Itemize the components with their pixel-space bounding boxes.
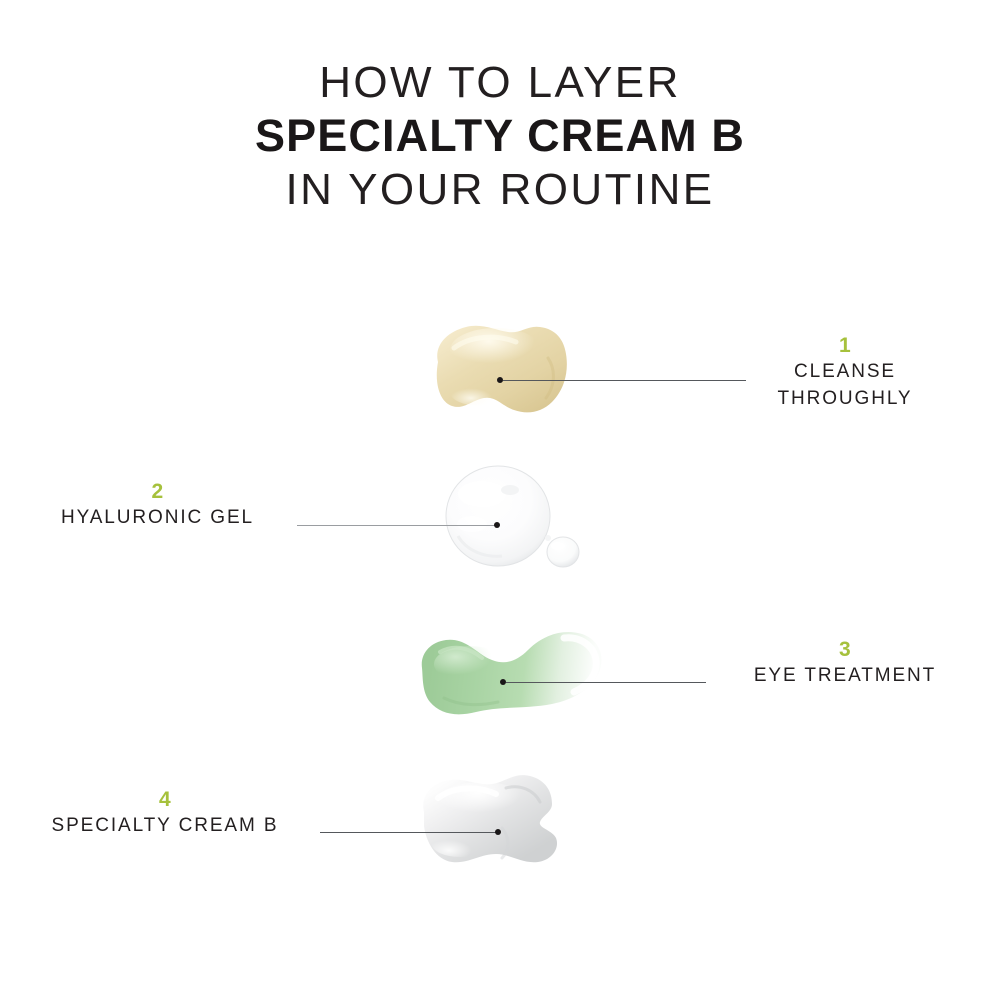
eye-cream-swatch bbox=[414, 616, 614, 726]
step-number-2: 2 bbox=[20, 480, 295, 504]
title-line-how-to-layer: HOW TO LAYER bbox=[0, 58, 1000, 108]
connector-dot-step-2 bbox=[494, 522, 500, 528]
step-label-1-line-2: THROUGHLY bbox=[700, 385, 990, 412]
step-label-1-line-1: CLEANSE bbox=[700, 358, 990, 385]
connector-dot-step-1 bbox=[497, 377, 503, 383]
step-label-group-3: 3 EYE TREATMENT bbox=[700, 638, 990, 689]
step-label-2-line-1: HYALURONIC GEL bbox=[20, 504, 295, 531]
step-label-group-1: 1 CLEANSE THROUGHLY bbox=[700, 334, 990, 412]
step-label-group-2: 2 HYALURONIC GEL bbox=[20, 480, 295, 531]
connector-line-step-2 bbox=[297, 525, 497, 526]
step-number-1: 1 bbox=[700, 334, 990, 358]
title-line-product-name: SPECIALTY CREAM B bbox=[0, 108, 1000, 164]
connector-line-step-4 bbox=[320, 832, 498, 833]
gel-droplet-swatch bbox=[432, 462, 592, 574]
step-label-4-line-1: SPECIALTY CREAM B bbox=[20, 812, 310, 839]
poster-title: HOW TO LAYER SPECIALTY CREAM B IN YOUR R… bbox=[0, 58, 1000, 216]
step-number-4: 4 bbox=[20, 788, 310, 812]
step-label-3-line-1: EYE TREATMENT bbox=[700, 662, 990, 689]
cleanser-swatch bbox=[424, 318, 600, 424]
step-label-group-4: 4 SPECIALTY CREAM B bbox=[20, 788, 310, 839]
connector-line-step-3 bbox=[506, 682, 706, 683]
specialty-cream-swatch bbox=[406, 768, 602, 872]
connector-dot-step-3 bbox=[500, 679, 506, 685]
infographic-poster: HOW TO LAYER SPECIALTY CREAM B IN YOUR R… bbox=[0, 0, 1000, 1000]
connector-dot-step-4 bbox=[495, 829, 501, 835]
title-line-in-your-routine: IN YOUR ROUTINE bbox=[0, 164, 1000, 216]
step-number-3: 3 bbox=[700, 638, 990, 662]
